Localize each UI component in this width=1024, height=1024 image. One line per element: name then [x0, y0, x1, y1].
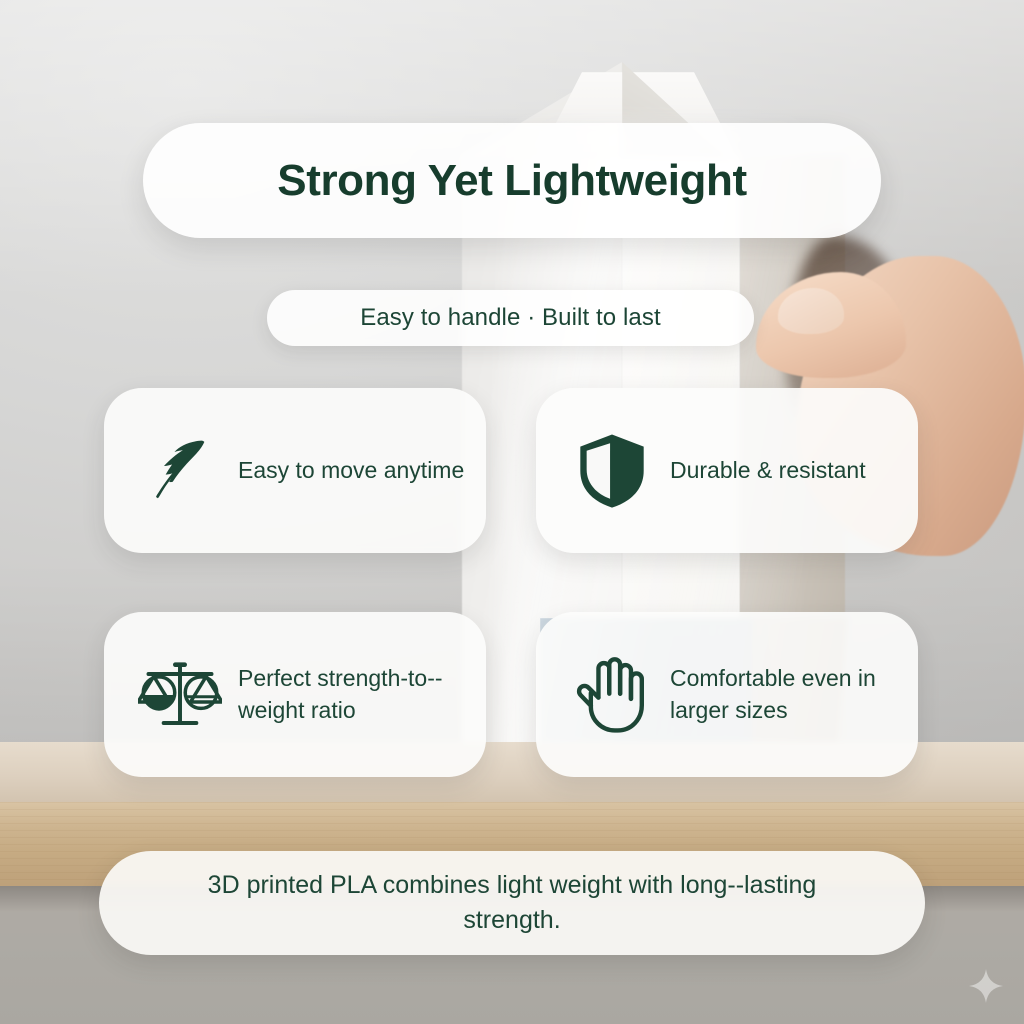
page-title: Strong Yet Lightweight	[277, 159, 747, 203]
hand-thumbnail	[778, 288, 844, 334]
open-hand-icon	[570, 653, 654, 737]
shield-icon	[570, 429, 654, 513]
feature-card-comfortable-larger-sizes[interactable]: Comfortable even in larger sizes	[536, 612, 918, 777]
title-pill: Strong Yet Lightweight	[143, 123, 881, 238]
infographic-canvas: Strong Yet Lightweight Easy to handle · …	[0, 0, 1024, 1024]
footer-description: 3D printed PLA combines light weight wit…	[162, 868, 862, 939]
feature-label: Perfect strength-to--weight ratio	[238, 663, 470, 726]
feature-label: Comfortable even in larger sizes	[670, 663, 902, 726]
page-subtitle: Easy to handle · Built to last	[360, 304, 661, 332]
feature-card-durable-resistant[interactable]: Durable & resistant	[536, 388, 918, 553]
feature-label: Easy to move anytime	[238, 455, 464, 487]
subtitle-pill: Easy to handle · Built to last	[267, 290, 754, 346]
feature-card-easy-to-move[interactable]: Easy to move anytime	[104, 388, 486, 553]
balance-scale-icon	[138, 653, 222, 737]
feature-label: Durable & resistant	[670, 455, 866, 487]
feature-card-strength-to-weight[interactable]: Perfect strength-to--weight ratio	[104, 612, 486, 777]
sparkle-icon	[966, 966, 1006, 1006]
footer-pill: 3D printed PLA combines light weight wit…	[99, 851, 925, 955]
feather-icon	[138, 429, 222, 513]
